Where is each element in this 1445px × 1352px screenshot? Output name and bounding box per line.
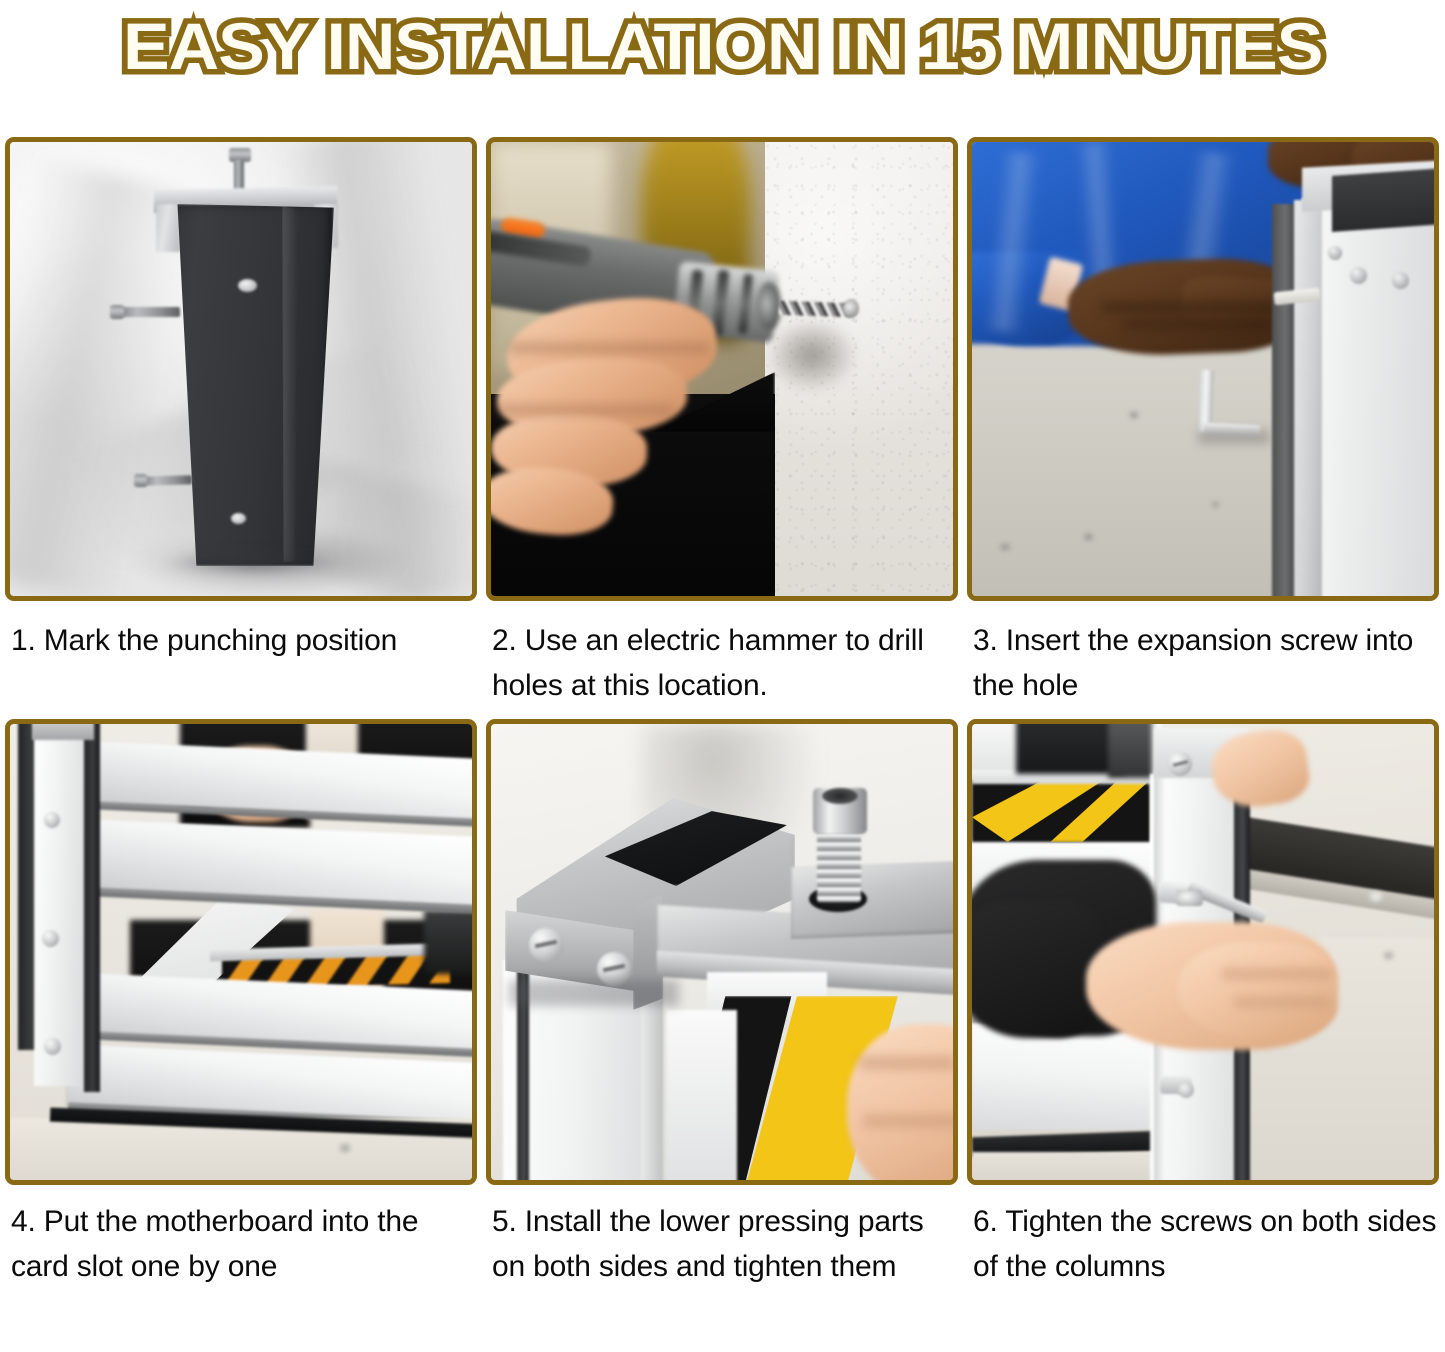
step-card-4: 4. Put the motherboard into the card slo… [5,719,477,1289]
step-caption-2: 2. Use an electric hammer to drill holes… [486,618,958,708]
step-photo-4 [10,724,472,1180]
step-photo-3 [972,142,1434,596]
steps-grid: 1. Mark the punching position [5,137,1439,1289]
step-photo-2 [491,142,953,596]
step-caption-1: 1. Mark the punching position [5,618,477,663]
step-photo-frame-3 [967,137,1439,601]
step-photo-frame-2 [486,137,958,601]
step-photo-frame-4 [5,719,477,1185]
step-card-3: 3. Insert the expansion screw into the h… [967,137,1439,708]
step-photo-1 [10,142,472,596]
step-photo-6 [972,724,1434,1180]
step-caption-4: 4. Put the motherboard into the card slo… [5,1199,477,1289]
step-caption-5: 5. Install the lower pressing parts on b… [486,1199,958,1289]
step-photo-5 [491,724,953,1180]
step-caption-3: 3. Insert the expansion screw into the h… [967,618,1439,708]
step-caption-6: 6. Tighten the screws on both sides of t… [967,1199,1439,1289]
step-card-6: 6. Tighten the screws on both sides of t… [967,719,1439,1289]
installation-guide-page: EASY INSTALLATION IN 15 MINUTES [0,0,1445,1352]
step-photo-frame-6 [967,719,1439,1185]
step-card-5: 5. Install the lower pressing parts on b… [486,719,958,1289]
page-title: EASY INSTALLATION IN 15 MINUTES [123,7,1322,85]
title-banner: EASY INSTALLATION IN 15 MINUTES [0,0,1445,92]
step-photo-frame-5 [486,719,958,1185]
step-card-1: 1. Mark the punching position [5,137,477,708]
step-card-2: 2. Use an electric hammer to drill holes… [486,137,958,708]
step-photo-frame-1 [5,137,477,601]
